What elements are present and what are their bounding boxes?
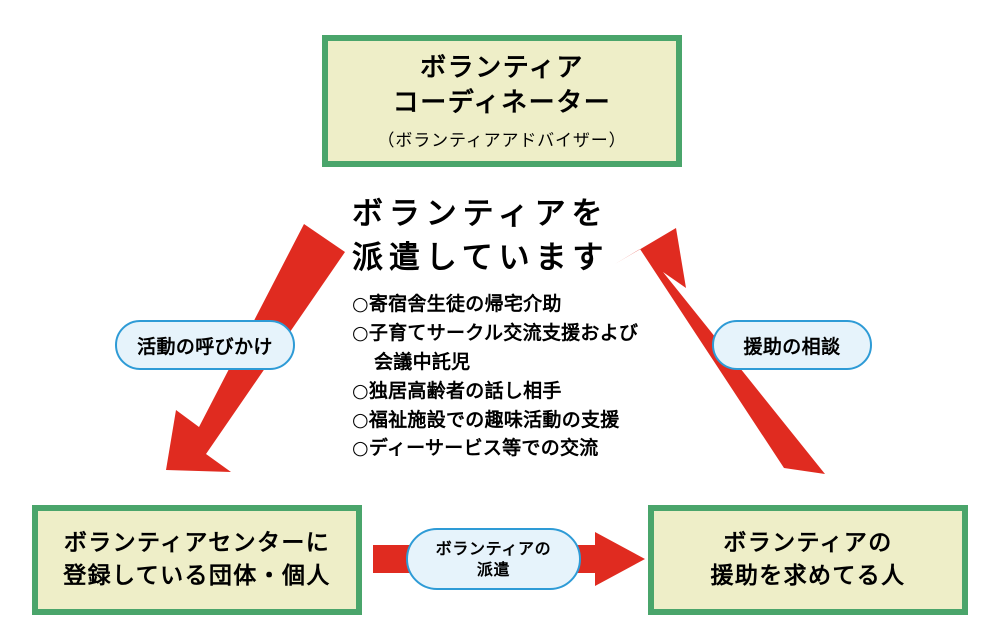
- list-item: ○子育てサークル交流支援および: [352, 319, 682, 348]
- pill-assistance-consultation: 援助の相談: [712, 320, 872, 370]
- center-heading: ボランティアを 派遣しています: [352, 192, 682, 280]
- pill-call-for-activity: 活動の呼びかけ: [115, 320, 295, 370]
- diagram-canvas: ボランティア コーディネーター （ボランティアアドバイザー） ボランティアを 派…: [0, 0, 1000, 643]
- pill-dispatch-line2: 派遣: [477, 559, 510, 580]
- center-heading-line2: 派遣しています: [352, 236, 682, 280]
- coordinator-line2: コーディネーター: [393, 86, 612, 120]
- seekers-line1: ボランティアの: [723, 527, 892, 560]
- list-item: 会議中託児: [352, 348, 682, 377]
- list-item: ○寄宿舎生徒の帰宅介助: [352, 290, 682, 319]
- center-heading-line1: ボランティアを: [352, 192, 682, 236]
- registered-line1: ボランティアセンターに: [64, 527, 330, 560]
- coordinator-line1: ボランティア: [420, 51, 584, 85]
- box-assistance-seekers: ボランティアの 援助を求めてる人: [648, 505, 968, 615]
- list-item: ○福祉施設での趣味活動の支援: [352, 406, 682, 435]
- pill-consult-label: 援助の相談: [744, 332, 841, 359]
- center-content: ボランティアを 派遣しています ○寄宿舎生徒の帰宅介助 ○子育てサークル交流支援…: [352, 192, 682, 463]
- box-volunteer-coordinator: ボランティア コーディネーター （ボランティアアドバイザー）: [322, 35, 682, 167]
- pill-dispatch-line1: ボランティアの: [436, 538, 552, 559]
- pill-volunteer-dispatch: ボランティアの 派遣: [406, 528, 581, 590]
- registered-line2: 登録している団体・個人: [63, 560, 331, 593]
- seekers-line2: 援助を求めてる人: [710, 560, 905, 593]
- list-item: ○ディーサービス等での交流: [352, 434, 682, 463]
- box-registered-volunteers: ボランティアセンターに 登録している団体・個人: [32, 505, 362, 615]
- service-list: ○寄宿舎生徒の帰宅介助 ○子育てサークル交流支援および 会議中託児 ○独居高齢者…: [352, 290, 682, 463]
- coordinator-subtitle: （ボランティアアドバイザー）: [378, 126, 627, 151]
- list-item: ○独居高齢者の話し相手: [352, 377, 682, 406]
- pill-call-label: 活動の呼びかけ: [137, 332, 273, 359]
